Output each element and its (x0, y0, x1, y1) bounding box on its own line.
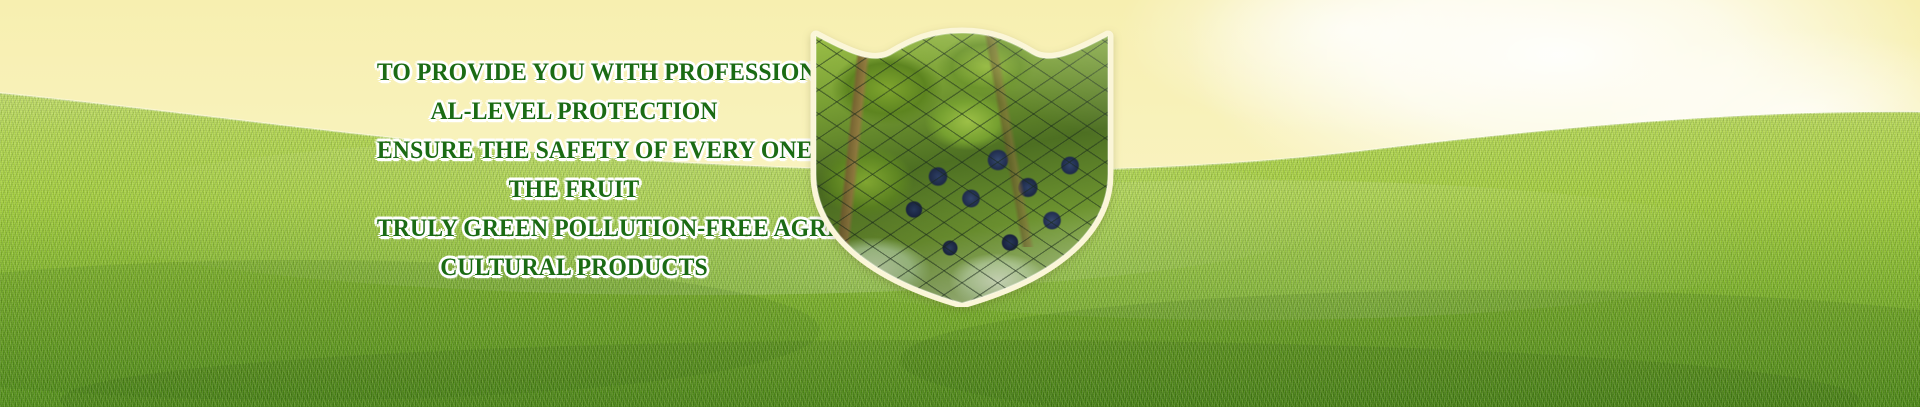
shield-image-clip (812, 28, 1112, 303)
headline-text: TO PROVIDE YOU WITH PROFESSION- AL-LEVEL… (377, 52, 771, 286)
headline-line-1: TO PROVIDE YOU WITH PROFESSION- (377, 52, 771, 91)
headline-line-2: AL-LEVEL PROTECTION (377, 91, 771, 130)
promo-banner: TO PROVIDE YOU WITH PROFESSION- AL-LEVEL… (0, 0, 1920, 407)
headline-line-6: CULTURAL PRODUCTS (377, 247, 771, 286)
shield-emblem (812, 28, 1112, 303)
headline-line-3: ENSURE THE SAFETY OF EVERY ONE OF (377, 130, 771, 169)
vine-shading (812, 28, 1112, 303)
headline-line-5: TRULY GREEN POLLUTION-FREE AGRI- (377, 208, 771, 247)
headline-line-4: THE FRUIT (377, 169, 771, 208)
